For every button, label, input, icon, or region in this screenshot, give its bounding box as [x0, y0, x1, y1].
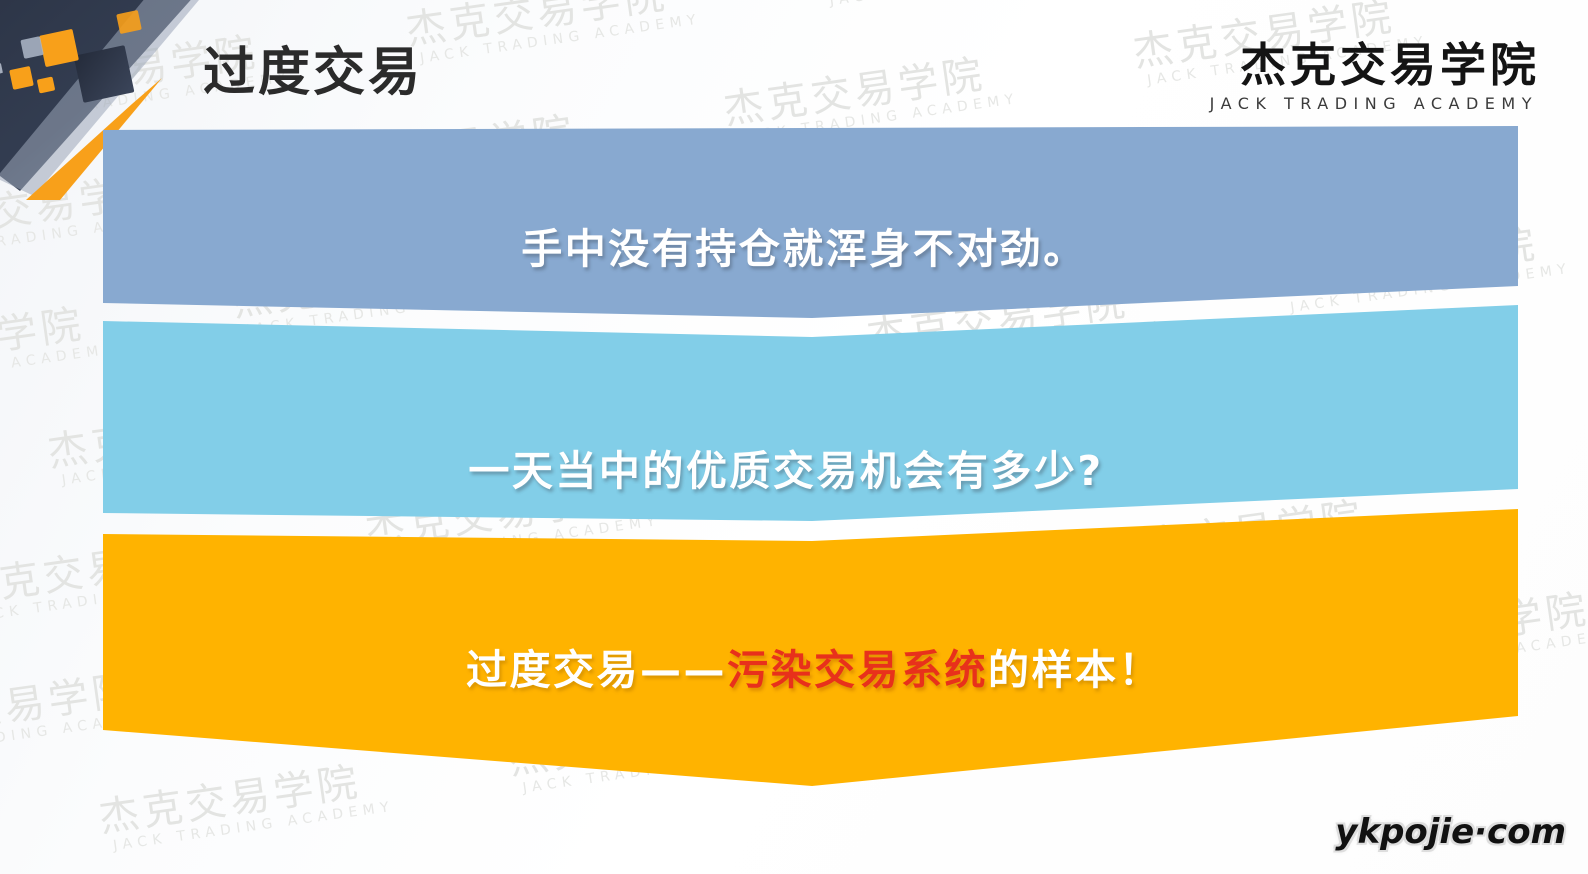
slide-canvas: 杰克交易学院 JACK TRADING ACADEMY 杰克交易学院 JACK …: [0, 0, 1588, 874]
chevron-bands-graphic: [0, 0, 1588, 874]
chevron-band-2: [103, 305, 1518, 521]
chevron-band-1: [103, 126, 1518, 318]
site-watermark: ykpojie·com: [1335, 812, 1566, 852]
chevron-band-3: [103, 509, 1518, 786]
chevron-band-group: [0, 0, 1588, 874]
